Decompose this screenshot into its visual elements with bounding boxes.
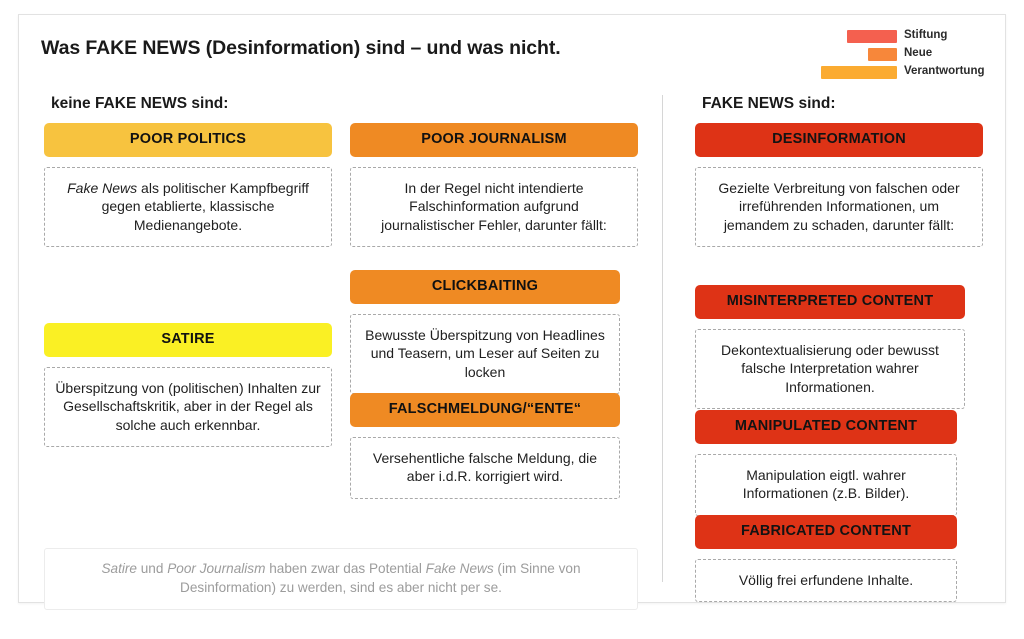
- card-falschmeldung: FALSCHMELDUNG/“ENTE“ Versehentliche fals…: [350, 393, 620, 499]
- card-misinterpreted-content: MISINTERPRETED CONTENT Dekontextualisier…: [695, 285, 965, 409]
- chip-label-satire[interactable]: SATIRE: [44, 323, 332, 357]
- logo-label: Neue: [904, 48, 932, 60]
- column-fake-news: FAKE NEWS sind: DESINFORMATION Gezielte …: [695, 95, 983, 125]
- column-not-fake-news: keine FAKE NEWS sind: POOR POLITICS Fake…: [44, 95, 332, 125]
- logo-line-stiftung: Stiftung: [847, 29, 947, 43]
- column-divider: [662, 95, 663, 582]
- card-manipulated-content: MANIPULATED CONTENT Manipulation eigtl. …: [695, 410, 957, 516]
- column-header-not-fake-news: keine FAKE NEWS sind:: [51, 95, 332, 113]
- logo-bar-icon: [868, 48, 897, 61]
- description-fabricated-content: Völlig frei erfundene Inhalte.: [695, 559, 957, 603]
- card-fabricated-content: FABRICATED CONTENT Völlig frei erfundene…: [695, 515, 957, 602]
- description-clickbaiting: Bewusste Überspitzung von Headlines und …: [350, 314, 620, 395]
- card-poor-politics: POOR POLITICS Fake News als politischer …: [44, 123, 332, 247]
- column-poor-journalism: keine FAKE NEWS sind: POOR JOURNALISM In…: [350, 95, 638, 125]
- description-desinformation: Gezielte Verbreitung von falschen oder i…: [695, 167, 983, 248]
- card-desinformation: DESINFORMATION Gezielte Verbreitung von …: [695, 123, 983, 247]
- description-poor-politics: Fake News als politischer Kampfbegriff g…: [44, 167, 332, 248]
- description-misinterpreted-content: Dekontextualisierung oder bewusst falsch…: [695, 329, 965, 410]
- chip-label-misinterpreted-content[interactable]: MISINTERPRETED CONTENT: [695, 285, 965, 319]
- logo-label: Stiftung: [904, 30, 947, 42]
- chip-label-poor-journalism[interactable]: POOR JOURNALISM: [350, 123, 638, 157]
- logo-bar-icon: [821, 66, 897, 79]
- chip-label-fabricated-content[interactable]: FABRICATED CONTENT: [695, 515, 957, 549]
- footnote-note: Satire und Poor Journalism haben zwar da…: [44, 548, 638, 610]
- page-title: Was FAKE NEWS (Desinformation) sind – un…: [41, 37, 561, 60]
- description-falschmeldung: Versehentliche falsche Meldung, die aber…: [350, 437, 620, 499]
- chip-label-manipulated-content[interactable]: MANIPULATED CONTENT: [695, 410, 957, 444]
- chip-label-falschmeldung[interactable]: FALSCHMELDUNG/“ENTE“: [350, 393, 620, 427]
- description-manipulated-content: Manipulation eigtl. wahrer Informationen…: [695, 454, 957, 516]
- logo-line-verantwortung: Verantwortung: [821, 65, 985, 79]
- infographic-card: Was FAKE NEWS (Desinformation) sind – un…: [18, 14, 1006, 603]
- logo-line-neue: Neue: [868, 47, 932, 61]
- description-satire: Überspitzung von (politischen) Inhalten …: [44, 367, 332, 448]
- logo-label: Verantwortung: [904, 66, 985, 78]
- description-poor-journalism: In der Regel nicht intendierte Falschinf…: [350, 167, 638, 248]
- chip-label-poor-politics[interactable]: POOR POLITICS: [44, 123, 332, 157]
- logo-bar-icon: [847, 30, 897, 43]
- organization-logo: Stiftung Neue Verantwortung: [821, 29, 991, 85]
- chip-label-clickbaiting[interactable]: CLICKBAITING: [350, 270, 620, 304]
- card-satire: SATIRE Überspitzung von (politischen) In…: [44, 323, 332, 447]
- column-header-fake-news: FAKE NEWS sind:: [702, 95, 983, 113]
- card-poor-journalism: POOR JOURNALISM In der Regel nicht inten…: [350, 123, 638, 247]
- chip-label-desinformation[interactable]: DESINFORMATION: [695, 123, 983, 157]
- card-clickbaiting: CLICKBAITING Bewusste Überspitzung von H…: [350, 270, 620, 394]
